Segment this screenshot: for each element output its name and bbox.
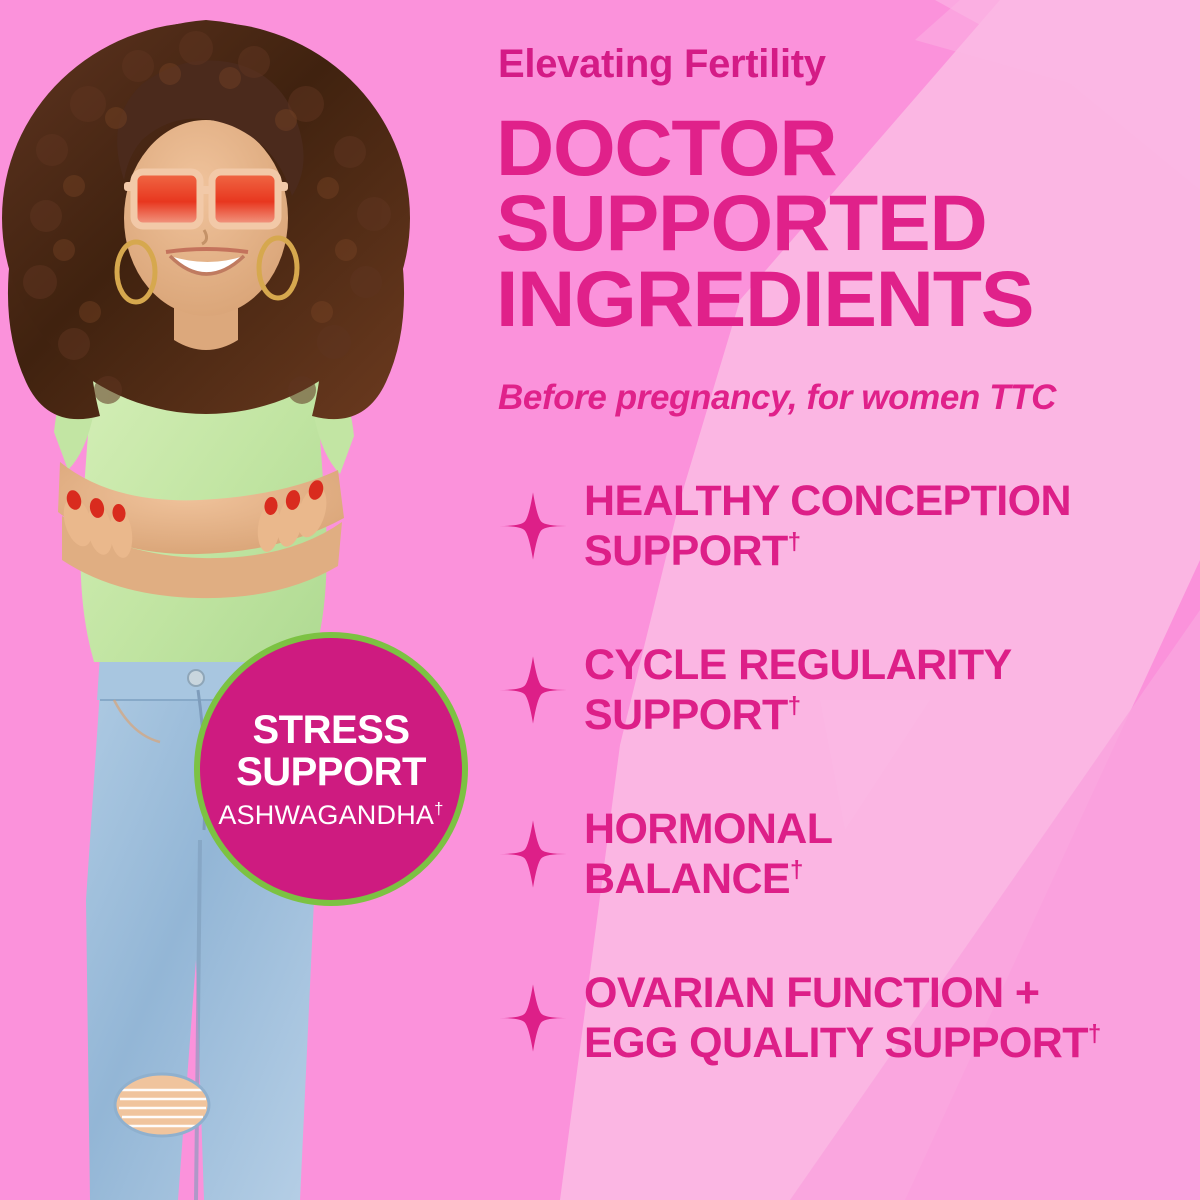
benefit-text: HORMONAL BALANCE†	[584, 804, 832, 905]
dagger-symbol: †	[790, 857, 803, 884]
benefit-line-2: SUPPORT†	[584, 690, 1012, 740]
promo-canvas: STRESS SUPPORT ASHWAGANDHA† Elevating Fe…	[0, 0, 1200, 1200]
sparkle-icon	[496, 653, 570, 727]
benefit-text: OVARIAN FUNCTION + EGG QUALITY SUPPORT†	[584, 968, 1101, 1069]
badge-line-2: SUPPORT	[236, 751, 426, 793]
benefits-list: HEALTHY CONCEPTION SUPPORT† CYCLE REGULA…	[496, 460, 1200, 1084]
stress-support-badge[interactable]: STRESS SUPPORT ASHWAGANDHA†	[194, 632, 468, 906]
page-title: DOCTOR SUPPORTED INGREDIENTS	[496, 110, 1033, 336]
benefit-line-1: OVARIAN FUNCTION +	[584, 968, 1101, 1018]
badge-dagger: †	[434, 799, 444, 818]
dagger-symbol: †	[788, 529, 801, 556]
badge-line-1: STRESS	[252, 709, 409, 751]
headline-line-2: SUPPORTED	[496, 185, 1033, 260]
benefit-line-2: BALANCE†	[584, 854, 832, 904]
list-item: CYCLE REGULARITY SUPPORT†	[496, 624, 1200, 756]
model-photo	[0, 0, 500, 1200]
headline-line-1: DOCTOR	[496, 110, 1033, 185]
benefit-line-1: CYCLE REGULARITY	[584, 640, 1012, 690]
benefit-line-1: HORMONAL	[584, 804, 832, 854]
sparkle-icon	[496, 489, 570, 563]
dagger-symbol: †	[1088, 1021, 1101, 1048]
model-illustration	[0, 0, 500, 1200]
headline-line-3: INGREDIENTS	[496, 261, 1033, 336]
sparkle-icon	[496, 817, 570, 891]
badge-ingredient: ASHWAGANDHA†	[218, 801, 443, 829]
content-column: Elevating Fertility DOCTOR SUPPORTED ING…	[496, 0, 1200, 1200]
benefit-text: HEALTHY CONCEPTION SUPPORT†	[584, 476, 1071, 577]
sparkle-icon	[496, 981, 570, 1055]
badge-ingredient-text: ASHWAGANDHA	[218, 800, 434, 830]
benefit-text: CYCLE REGULARITY SUPPORT†	[584, 640, 1012, 741]
benefit-line-2-text: BALANCE	[584, 855, 790, 903]
benefit-line-2-text: SUPPORT	[584, 527, 788, 575]
benefit-line-1: HEALTHY CONCEPTION	[584, 476, 1071, 526]
benefit-line-2: SUPPORT†	[584, 526, 1071, 576]
benefit-line-2-text: EGG QUALITY SUPPORT	[584, 1019, 1088, 1067]
list-item: HEALTHY CONCEPTION SUPPORT†	[496, 460, 1200, 592]
benefit-line-2: EGG QUALITY SUPPORT†	[584, 1018, 1101, 1068]
eyebrow-text: Elevating Fertility	[498, 42, 826, 87]
list-item: HORMONAL BALANCE†	[496, 788, 1200, 920]
dagger-symbol: †	[788, 693, 801, 720]
subheadline: Before pregnancy, for women TTC	[498, 378, 1056, 418]
benefit-line-2-text: SUPPORT	[584, 691, 788, 739]
list-item: OVARIAN FUNCTION + EGG QUALITY SUPPORT†	[496, 952, 1200, 1084]
